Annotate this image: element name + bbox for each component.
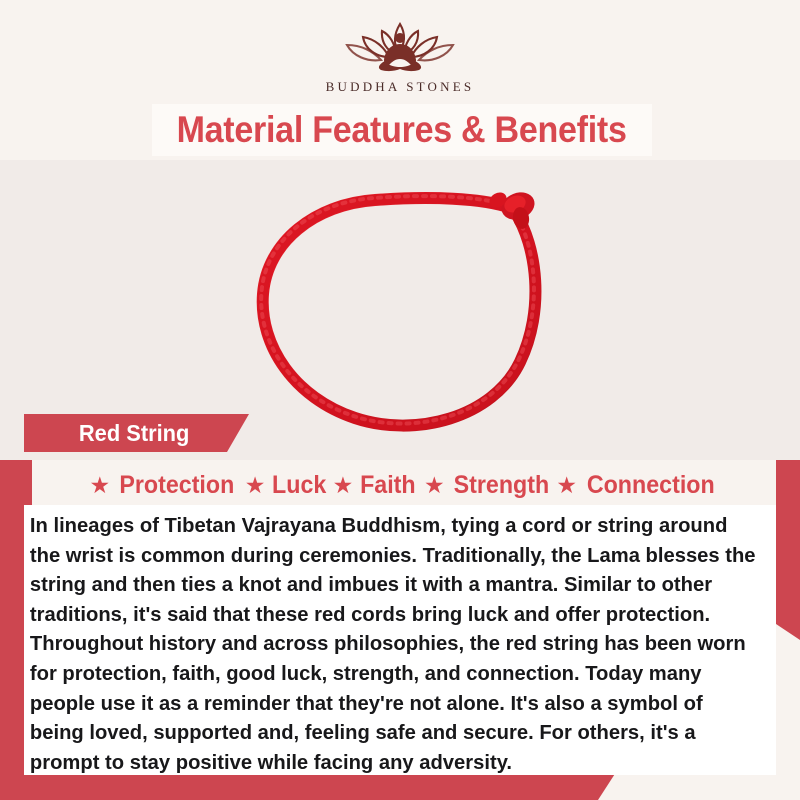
star-icon: ★ (245, 474, 266, 497)
red-string-bracelet-image (215, 160, 595, 440)
benefit-item-protection: ★ Protection (89, 471, 238, 500)
benefit-item-luck: ★ Luck (245, 471, 329, 500)
benefit-label: Faith (360, 471, 416, 500)
page-title-text: Material Features & Benefits (177, 109, 627, 151)
brand-logo: BUDDHA STONES (0, 14, 800, 95)
benefit-item-connection: ★ Connection (556, 471, 719, 500)
page-title: Material Features & Benefits (152, 104, 652, 156)
benefit-item-faith: ★ Faith (333, 471, 418, 500)
product-label-text: Red String (79, 420, 189, 447)
benefit-label: Protection (119, 471, 234, 500)
benefits-row: ★ Protection ★ Luck ★ Faith ★ Strength ★… (32, 466, 777, 504)
star-icon: ★ (89, 474, 110, 497)
star-icon: ★ (424, 474, 445, 497)
lotus-meditation-icon (325, 14, 475, 76)
star-icon: ★ (333, 474, 354, 497)
brand-name: BUDDHA STONES (326, 79, 475, 95)
benefit-label: Luck (272, 471, 326, 500)
benefit-item-strength: ★ Strength (424, 471, 552, 500)
benefit-label: Strength (453, 471, 549, 500)
star-icon: ★ (556, 474, 577, 497)
poster-header: BUDDHA STONES Material Features & Benefi… (0, 0, 800, 160)
description-panel: In lineages of Tibetan Vajrayana Buddhis… (24, 505, 776, 775)
description-text: In lineages of Tibetan Vajrayana Buddhis… (24, 511, 765, 777)
product-label-banner: Red String (24, 414, 249, 452)
benefit-label: Connection (587, 471, 715, 500)
material-features-poster: BUDDHA STONES Material Features & Benefi… (0, 0, 800, 800)
